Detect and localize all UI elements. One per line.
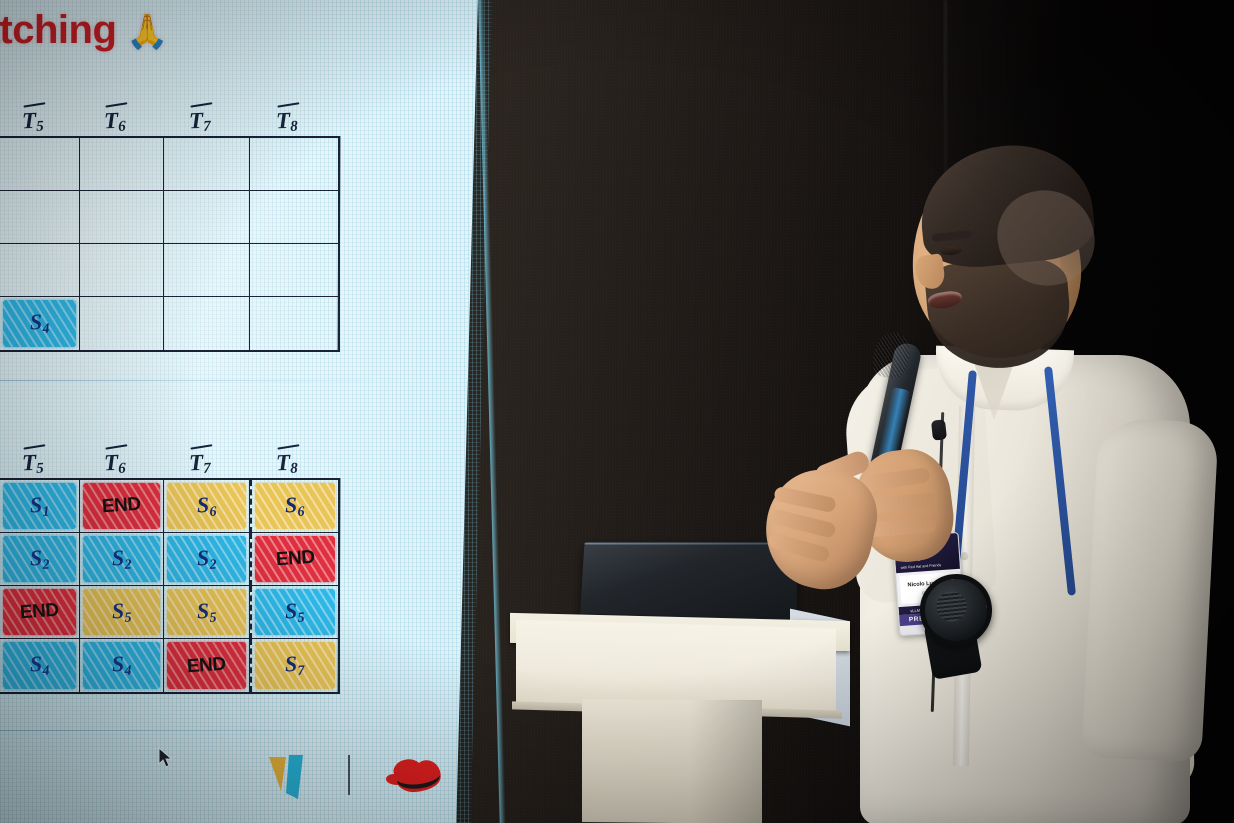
cell-label: END [186,653,226,678]
cell-label-index: 4 [42,663,50,678]
header-overbar [277,102,299,107]
header-overbar [105,102,127,107]
lower-header-t7: T7 [189,450,212,479]
cell-label-index: 7 [298,663,306,678]
vllm-logo-icon [265,753,317,801]
lapel-microphone [931,419,947,440]
lower-cell-r4c4: END [164,639,250,692]
cell-label-letter: S [196,491,210,517]
lower-cell-r4c2: S4 [0,639,80,692]
lower-cell-r1c2: S1 [0,480,80,533]
cell-label-letter: S [29,651,43,677]
watch-face [935,590,968,623]
cell-label: END [19,600,59,625]
cell-label-index: 2 [42,557,50,572]
lower-table-grid: S1S1ENDS6S6S2S2S2S2ENDS3ENDS5S5S5S4S4S4E… [0,478,340,694]
header-overbar [277,444,299,449]
cell-label: S4 [29,651,50,681]
upper-table-headers: T4T5T6T7T8 [0,96,378,136]
header-index: 6 [118,461,126,477]
header-overbar [190,444,212,449]
header-letter: T [22,108,37,133]
cell-label-index: 5 [298,610,306,625]
header-letter: T [189,108,204,133]
lower-header-t6: T6 [104,450,127,479]
upper-header-t6: T6 [104,108,127,137]
cell-label-letter: S [29,309,43,335]
screenshot-stage: ative Batching🙏 T4T5T6T7T8 S1S3S4S4 T4T5… [0,0,1234,823]
cell-label-index: 5 [209,610,217,625]
presenter: Our First vLLM Korea Meetup with Red Hat… [760,120,1234,823]
header-letter: T [276,108,291,133]
lower-cell-r2c4: S2 [164,533,250,586]
cell-label-letter: S [111,597,125,623]
upper-cell-r2c5 [250,191,338,244]
cell-label-index: 6 [209,504,217,519]
cell-label: END [275,547,315,572]
cell-label-index: 4 [42,321,50,336]
upper-cell-r1c2 [0,138,80,191]
cell-label: S5 [111,597,132,627]
lower-timeline-table: T4T5T6T7T8 S1S1ENDS6S6S2S2S2S2ENDS3ENDS5… [0,438,378,694]
upper-header-t5: T5 [22,108,45,137]
upper-table-grid: S1S3S4S4 [0,136,340,352]
header-index: 5 [36,461,44,477]
slide-section-divider-top [0,380,415,381]
lower-cell-r2c2: S2 [0,533,80,586]
header-overbar [23,444,45,449]
cell-label-index: 2 [124,557,132,572]
header-letter: T [189,450,204,475]
cell-label-index: 5 [124,610,132,625]
cell-label-letter: S [196,597,210,623]
cell-label: S5 [196,597,217,627]
lower-cell-r2c3: S2 [80,533,164,586]
header-letter: T [104,108,119,133]
cell-label-index: 2 [209,557,217,572]
upper-cell-r2c4 [164,191,250,244]
cell-label-letter: S [196,544,210,570]
slide-title-text: ative Batching [0,8,116,52]
upper-cell-r3c3 [80,244,164,297]
upper-header-t7: T7 [189,108,212,137]
upper-cell-r3c4 [164,244,250,297]
lower-cell-r1c3: END [80,480,164,533]
upper-cell-r4c4 [164,297,250,350]
lower-header-t8: T8 [276,450,299,479]
cell-label-letter: S [29,491,43,517]
header-overbar [105,444,127,449]
cell-label-index: 4 [124,663,132,678]
lower-cell-r4c3: S4 [80,639,164,692]
header-index: 8 [290,461,298,477]
header-letter: T [22,450,37,475]
cell-label: S6 [196,491,217,521]
cell-label: S2 [29,544,50,574]
cell-label: S1 [29,491,50,521]
upper-cell-r1c3 [80,138,164,191]
cell-label: END [101,494,141,519]
upper-cell-r1c4 [164,138,250,191]
mouse-cursor-icon [158,747,174,769]
praying-hands-emoji-icon: 🙏 [126,13,168,51]
slide-title: ative Batching🙏 [0,8,370,53]
header-index: 8 [290,119,298,135]
header-letter: T [104,450,119,475]
header-overbar [190,102,212,107]
upper-cell-r2c3 [80,191,164,244]
cell-label: S7 [285,651,306,681]
cell-label: S6 [285,491,306,521]
cell-label: S2 [196,544,217,574]
cell-label-index: 6 [298,504,306,519]
header-index: 5 [36,119,44,135]
cell-label: S2 [111,544,132,574]
upper-cell-r1c5 [250,138,338,191]
header-index: 6 [118,119,126,135]
header-index: 7 [203,461,211,477]
lower-cell-r1c4: S6 [164,480,250,533]
slide-content: ative Batching🙏 T4T5T6T7T8 S1S3S4S4 T4T5… [0,0,470,823]
slide-footer-logos [0,745,420,805]
cell-label: S5 [285,597,306,627]
lower-cell-r4c5: S7 [250,639,338,692]
header-overbar [23,102,45,107]
upper-timeline-table: T4T5T6T7T8 S1S3S4S4 [0,96,378,352]
cell-label-letter: S [111,544,125,570]
lower-cell-r2c5: END [250,533,338,586]
cell-label: S4 [29,309,50,339]
lower-cell-r1c5: S6 [250,480,338,533]
presenter-right-arm [1081,417,1219,763]
header-index: 7 [203,119,211,135]
podium-stem-shadow [690,700,762,823]
lower-cell-r3c2: END [0,586,80,639]
slide-section-divider-bottom [0,730,415,731]
upper-cell-r4c5 [250,297,338,350]
upper-cell-r3c5 [250,244,338,297]
upper-cell-r2c2 [0,191,80,244]
logo-divider [348,755,350,795]
header-letter: T [276,450,291,475]
cell-label-letter: S [29,544,43,570]
lower-cell-r3c4: S5 [164,586,250,639]
cell-label: S4 [111,651,132,681]
cell-label-index: 1 [42,504,50,519]
red-hat-logo-icon [384,755,446,799]
upper-cell-r3c2 [0,244,80,297]
lower-header-t5: T5 [22,450,45,479]
upper-cell-r4c3 [80,297,164,350]
lower-table-headers: T4T5T6T7T8 [0,438,378,478]
upper-header-t8: T8 [276,108,299,137]
lower-cell-r3c5: S5 [250,586,338,639]
upper-cell-r4c2: S4 [0,297,80,350]
cell-label-letter: S [111,651,125,677]
lower-cell-r3c3: S5 [80,586,164,639]
